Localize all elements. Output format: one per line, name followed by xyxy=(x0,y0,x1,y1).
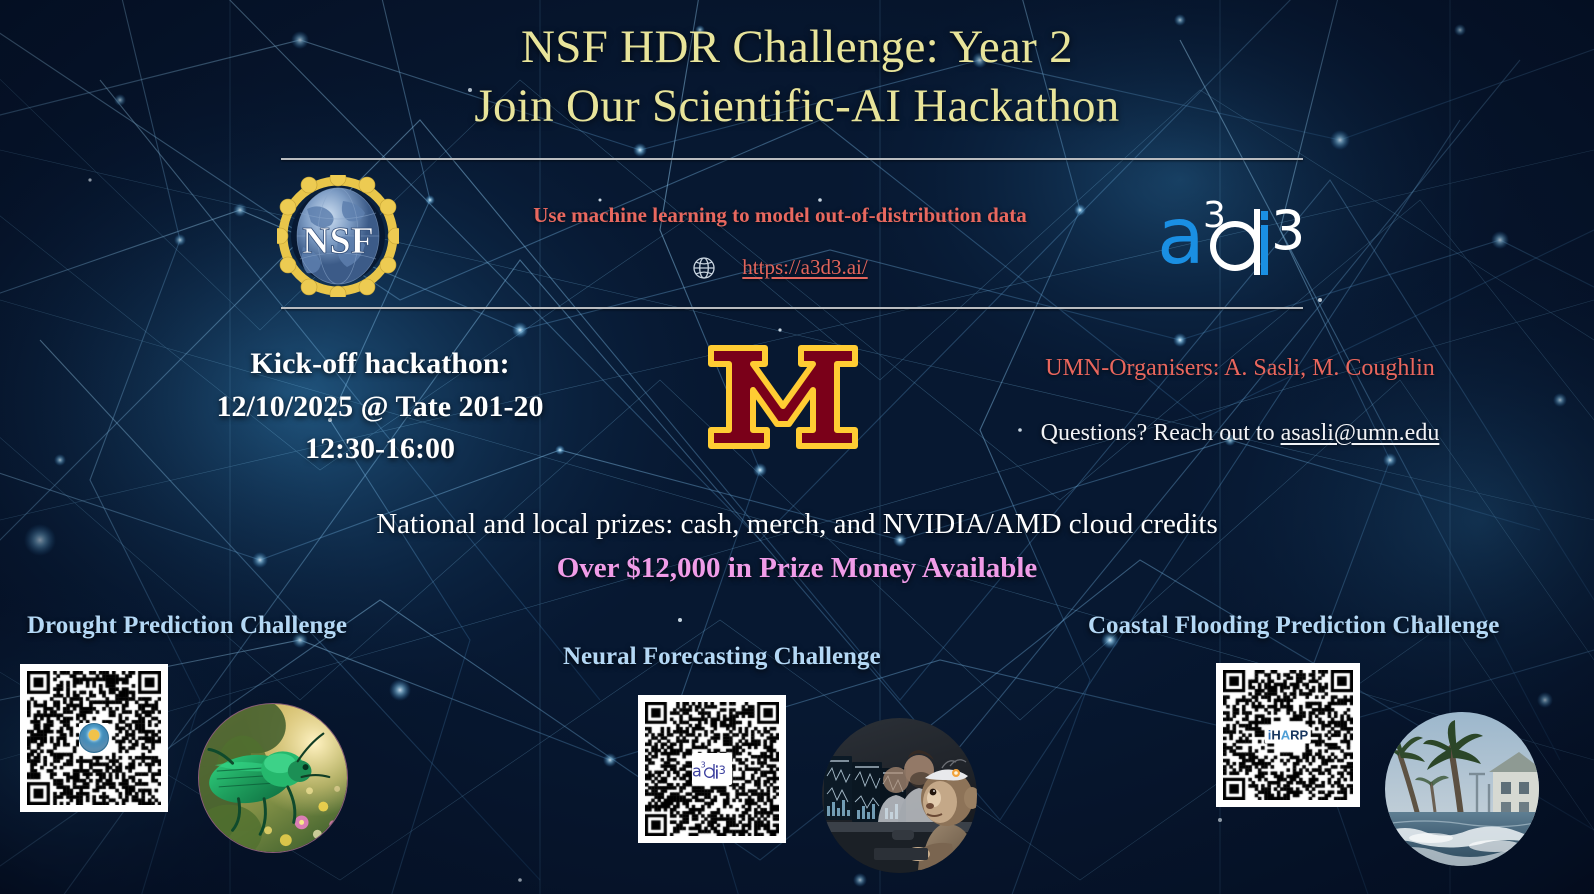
a3d3-logo-icon: a 3 3 xyxy=(692,753,732,785)
umn-m-logo xyxy=(703,338,863,456)
svg-text:3: 3 xyxy=(1271,199,1305,262)
qr-code-coastal-challenge[interactable]: iHARP xyxy=(1216,663,1360,807)
tagline-text: Use machine learning to model out-of-dis… xyxy=(430,203,1130,228)
kickoff-time: 12:30-16:00 xyxy=(150,428,610,471)
kickoff-date: 12/10/2025 @ Tate 201-20 xyxy=(150,386,610,429)
beetle-meadow-photo xyxy=(198,703,348,853)
qr-code-neural-challenge[interactable]: a 3 3 xyxy=(638,695,786,843)
questions-text: Questions? Reach out to asasli@umn.edu xyxy=(930,420,1550,447)
svg-text:3: 3 xyxy=(701,760,706,769)
coastal-flooding-photo xyxy=(1385,712,1539,866)
challenge-title-neural: Neural Forecasting Challenge xyxy=(563,643,881,671)
svg-text:3: 3 xyxy=(719,763,726,777)
a3d3-logo: a 3 3 xyxy=(1155,183,1323,279)
iharp-label: iHARP xyxy=(1265,727,1311,744)
divider-top xyxy=(281,158,1303,160)
title-line-1: NSF HDR Challenge: Year 2 xyxy=(0,18,1594,77)
poster-canvas: NSF HDR Challenge: Year 2 Join Our Scien… xyxy=(0,0,1594,894)
a3d3-website-link[interactable]: https://a3d3.ai/ xyxy=(742,255,867,280)
kickoff-block: Kick-off hackathon: 12/10/2025 @ Tate 20… xyxy=(150,343,610,471)
challenge-title-coastal: Coastal Flooding Prediction Challenge xyxy=(1088,612,1499,640)
contact-email-link[interactable]: asasli@umn.edu xyxy=(1281,420,1440,446)
website-row: https://a3d3.ai/ xyxy=(430,255,1130,280)
questions-prefix: Questions? Reach out to xyxy=(1041,420,1281,446)
organisers-text: UMN-Organisers: A. Sasli, M. Coughlin xyxy=(930,355,1550,382)
qr-code-drought-challenge[interactable] xyxy=(20,664,168,812)
poster-title: NSF HDR Challenge: Year 2 Join Our Scien… xyxy=(0,18,1594,136)
nsf-logo: NSF xyxy=(277,175,399,297)
iharp-logo-icon: iHARP xyxy=(1265,727,1311,744)
globe-icon xyxy=(692,256,716,280)
kickoff-label: Kick-off hackathon: xyxy=(150,343,610,386)
prizes-line-1: National and local prizes: cash, merch, … xyxy=(0,508,1594,541)
prizes-line-2: Over $12,000 in Prize Money Available xyxy=(0,552,1594,585)
svg-text:NSF: NSF xyxy=(302,220,374,262)
monkey-neural-lab-photo xyxy=(822,718,977,873)
divider-bottom xyxy=(281,307,1303,309)
challenge-title-drought: Drought Prediction Challenge xyxy=(27,612,347,640)
svg-text:a: a xyxy=(1157,192,1205,279)
drought-globe-logo-icon xyxy=(79,723,109,753)
title-line-2: Join Our Scientific-AI Hackathon xyxy=(0,77,1594,136)
